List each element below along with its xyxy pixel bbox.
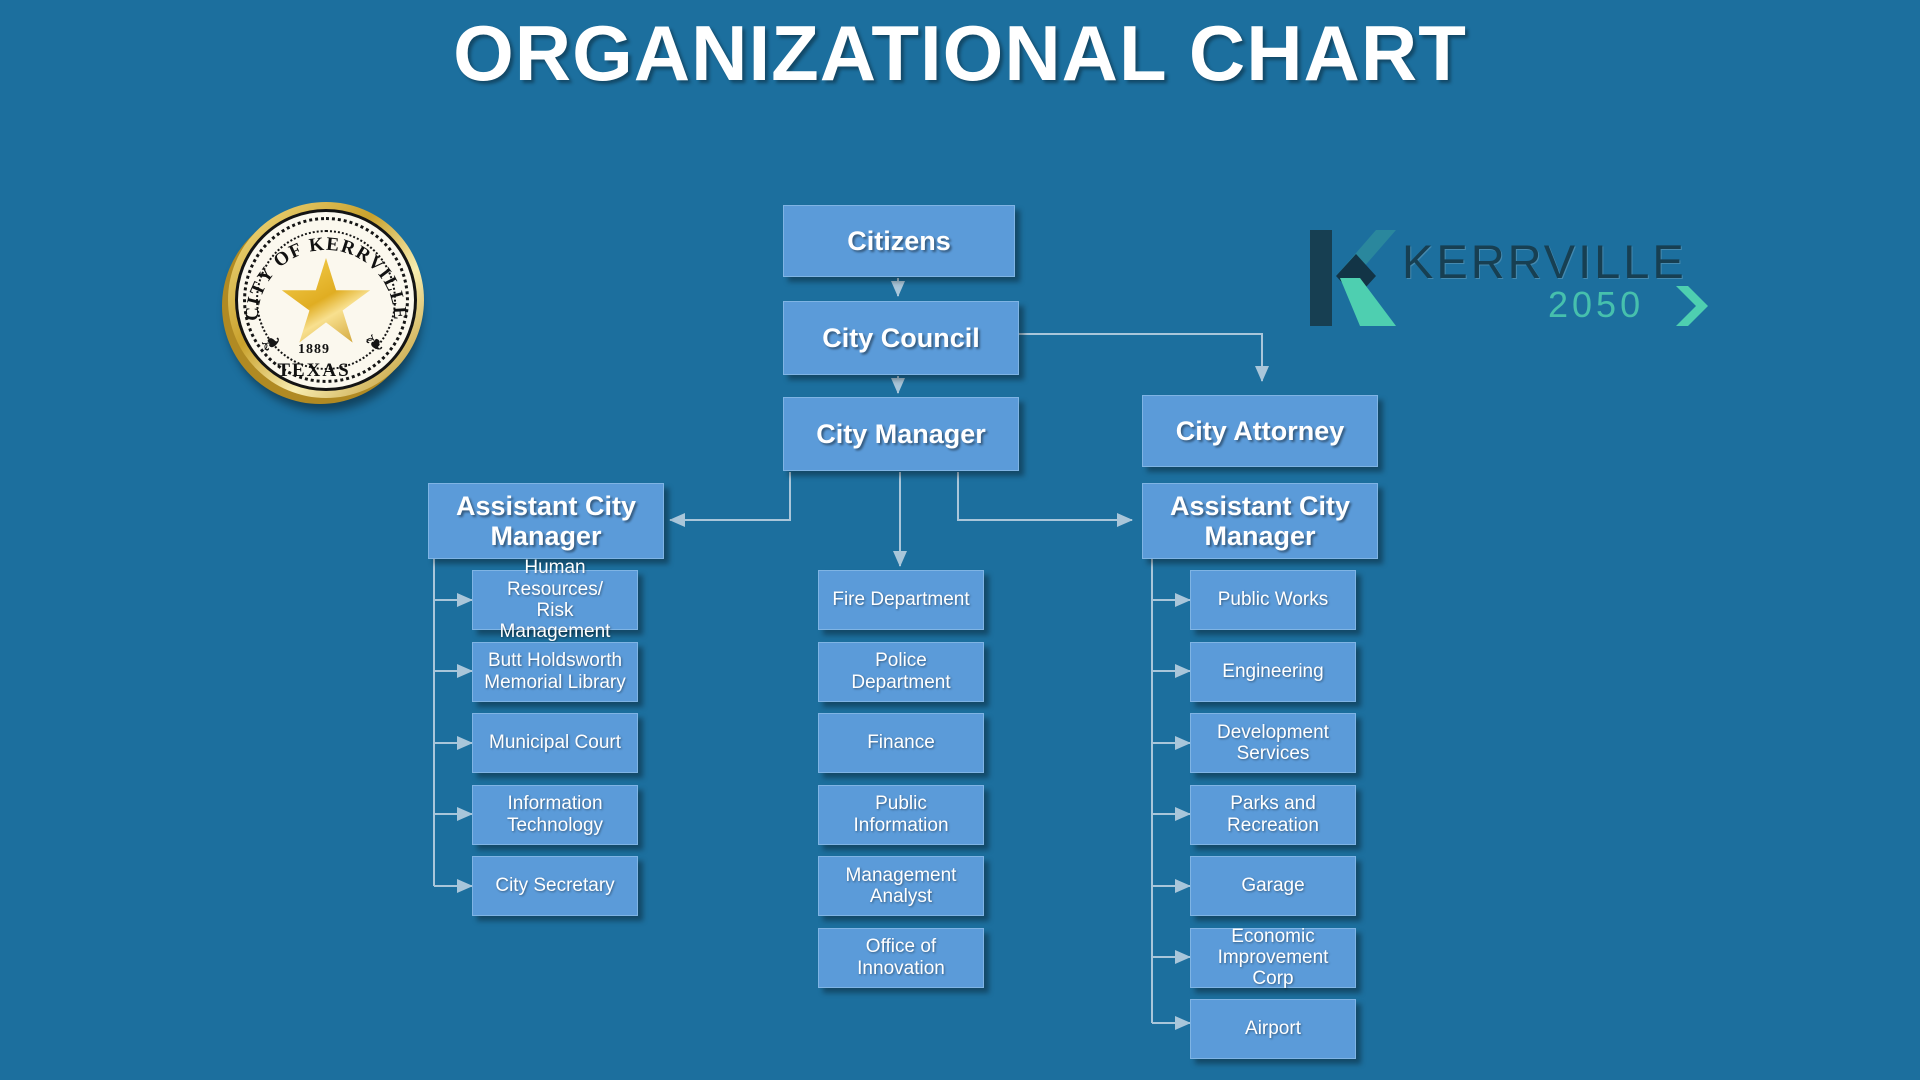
department-box[interactable]: Airport <box>1190 999 1356 1059</box>
node-city-council-label: City Council <box>816 323 986 353</box>
department-label-line1: Economic <box>1225 926 1320 947</box>
brand-name: KERRVILLE <box>1402 234 1687 289</box>
department-label-line1: Butt Holdsworth <box>482 650 628 671</box>
connector-layer <box>0 0 1920 1080</box>
node-city-manager-label: City Manager <box>810 419 992 449</box>
seal-state: TEXAS <box>218 360 410 382</box>
department-box[interactable]: Engineering <box>1190 642 1356 702</box>
department-box[interactable]: Garage <box>1190 856 1356 916</box>
department-label-line1: Office of <box>860 936 942 957</box>
department-label-line2: Risk Management <box>473 600 637 643</box>
department-label-line2: Innovation <box>851 958 951 979</box>
city-seal-logo: CITY OF KERRVILLE ❧ ❧ 1889 TEXAS <box>218 200 426 408</box>
department-label-line2: Recreation <box>1221 815 1325 836</box>
department-label-line2: Memorial Library <box>478 672 631 693</box>
page-title: ORGANIZATIONAL CHART <box>0 8 1920 99</box>
department-box[interactable]: ManagementAnalyst <box>818 856 984 916</box>
acm-right-label-line2: Manager <box>1198 521 1321 551</box>
department-label-line2: Improvement Corp <box>1191 947 1355 990</box>
department-label-line1: Information <box>501 793 608 814</box>
department-box[interactable]: Finance <box>818 713 984 773</box>
department-label-line1: Fire Department <box>826 589 975 610</box>
acm-left-label-line2: Manager <box>484 521 607 551</box>
node-city-attorney[interactable]: City Attorney <box>1142 395 1378 467</box>
department-box[interactable]: Office ofInnovation <box>818 928 984 988</box>
department-box[interactable]: InformationTechnology <box>472 785 638 845</box>
department-label-line1: Human Resources/ <box>473 557 637 600</box>
brand-year: 2050 <box>1548 284 1644 326</box>
department-label-line1: Management <box>840 865 963 886</box>
chevron-right-icon <box>1674 284 1714 328</box>
k-monogram-icon <box>1310 226 1396 326</box>
department-label-line1: Public Works <box>1212 589 1335 610</box>
department-box[interactable]: DevelopmentServices <box>1190 713 1356 773</box>
acm-right-label-line1: Assistant City <box>1164 491 1356 521</box>
department-box[interactable]: Butt HoldsworthMemorial Library <box>472 642 638 702</box>
department-label-line1: City Secretary <box>489 875 620 896</box>
department-label-line1: Development <box>1211 722 1335 743</box>
department-label-line1: Parks and <box>1224 793 1322 814</box>
node-city-attorney-label: City Attorney <box>1170 416 1351 446</box>
department-box[interactable]: EconomicImprovement Corp <box>1190 928 1356 988</box>
department-box[interactable]: Fire Department <box>818 570 984 630</box>
department-label-line1: Garage <box>1235 875 1310 896</box>
seal-year: 1889 <box>218 342 410 358</box>
department-box[interactable]: Human Resources/Risk Management <box>472 570 638 630</box>
department-box[interactable]: City Secretary <box>472 856 638 916</box>
department-label-line1: Public Information <box>819 793 983 836</box>
node-city-council[interactable]: City Council <box>783 301 1019 375</box>
department-label-line1: Engineering <box>1216 661 1329 682</box>
department-label-line1: Police Department <box>819 650 983 693</box>
department-label-line1: Finance <box>861 732 941 753</box>
department-label-line2: Services <box>1231 743 1316 764</box>
department-box[interactable]: Police Department <box>818 642 984 702</box>
node-citizens[interactable]: Citizens <box>783 205 1015 277</box>
department-label-line2: Technology <box>501 815 609 836</box>
department-box[interactable]: Parks andRecreation <box>1190 785 1356 845</box>
kerrville-2050-logo: KERRVILLE 2050 <box>1310 226 1730 336</box>
acm-left-label-line1: Assistant City <box>450 491 642 521</box>
node-assistant-city-manager-right[interactable]: Assistant City Manager <box>1142 483 1378 559</box>
department-label-line1: Airport <box>1239 1018 1307 1039</box>
node-city-manager[interactable]: City Manager <box>783 397 1019 471</box>
department-box[interactable]: Public Information <box>818 785 984 845</box>
department-box[interactable]: Municipal Court <box>472 713 638 773</box>
department-label-line1: Municipal Court <box>483 732 627 753</box>
department-label-line2: Analyst <box>864 886 938 907</box>
department-box[interactable]: Public Works <box>1190 570 1356 630</box>
org-chart-canvas: ORGANIZATIONAL CHART CITY OF KERRVILLE ❧… <box>0 0 1920 1080</box>
node-assistant-city-manager-left[interactable]: Assistant City Manager <box>428 483 664 559</box>
node-citizens-label: Citizens <box>841 226 957 256</box>
